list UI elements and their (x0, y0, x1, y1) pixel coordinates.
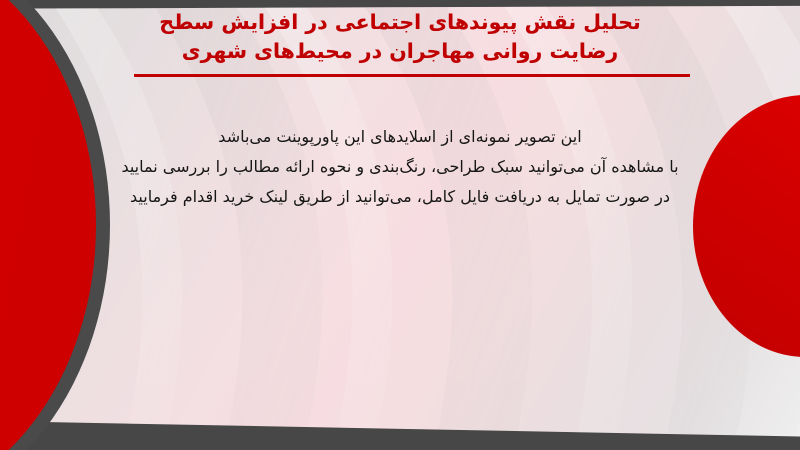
title-underline-rule (134, 74, 690, 77)
slide-title: تحلیل نقش پیوندهای اجتماعی در افزایش سطح… (0, 8, 800, 66)
slide-body-text: این تصویر نمونه‌ای از اسلایدهای این پاور… (92, 122, 708, 212)
slide-body-line-2: با مشاهده آن می‌توانید سبک طراحی، رنگ‌بن… (92, 152, 708, 182)
slide-body-line-3: در صورت تمایل به دریافت فایل کامل، می‌تو… (92, 182, 708, 212)
presentation-slide: تحلیل نقش پیوندهای اجتماعی در افزایش سطح… (0, 0, 800, 450)
slide-title-line-2: رضایت روانی مهاجران در محیط‌های شهری (0, 37, 800, 66)
slide-title-line-1: تحلیل نقش پیوندهای اجتماعی در افزایش سطح (0, 8, 800, 37)
background-arc-bands (0, 0, 800, 450)
slide-content-plate (0, 0, 800, 450)
slide-body-line-1: این تصویر نمونه‌ای از اسلایدهای این پاور… (92, 122, 708, 152)
